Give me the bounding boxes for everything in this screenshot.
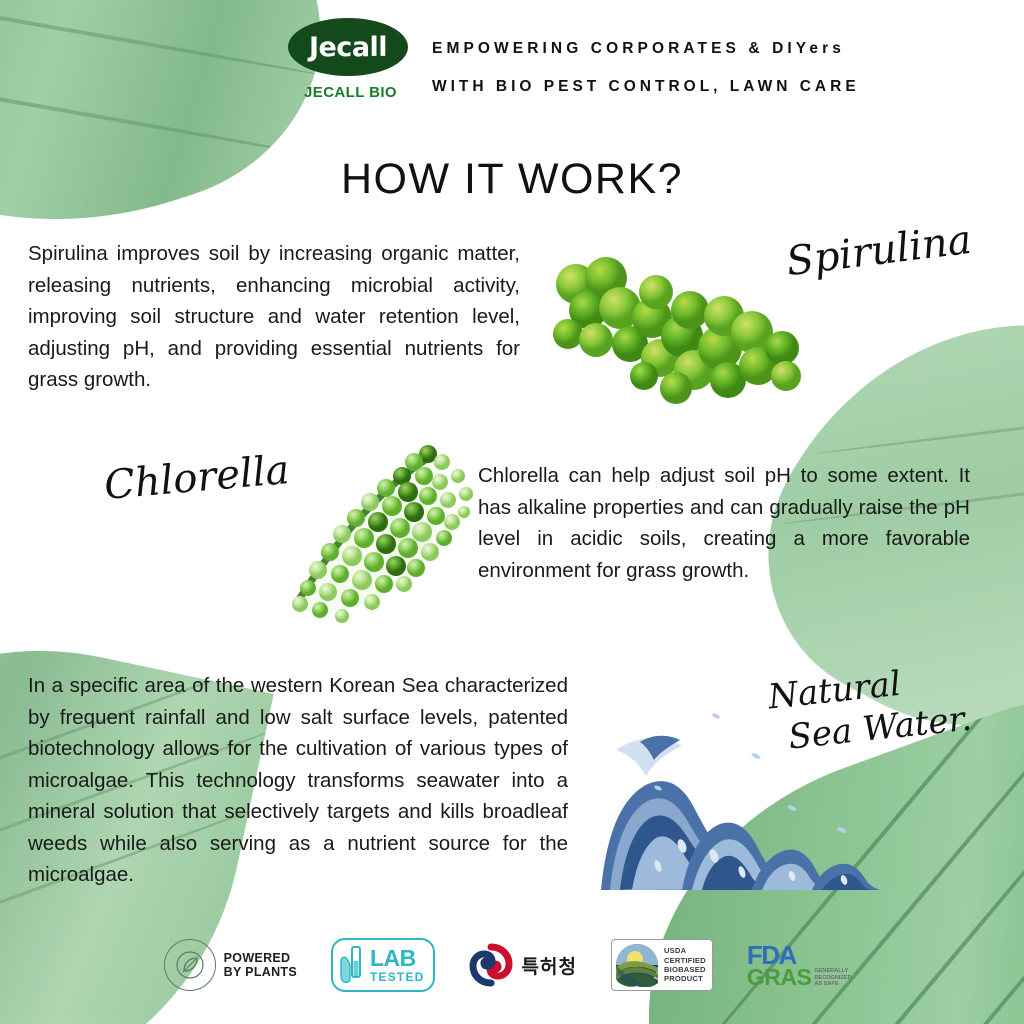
leaf-icon xyxy=(164,939,216,991)
page-title: HOW IT WORK? xyxy=(0,155,1024,204)
gras-label: GRAS xyxy=(747,967,811,988)
usda-landscape-icon xyxy=(615,943,659,987)
sea-water-paragraph: In a specific area of the western Korean… xyxy=(28,670,568,891)
usda-line-2: CERTIFIED xyxy=(664,956,706,965)
powered-by-plants-text: POWERED BY PLANTS xyxy=(224,951,297,979)
lab-tested-line-2: TESTED xyxy=(370,971,425,983)
tagline-line-2: WITH BIO PEST CONTROL, LAWN CARE xyxy=(432,68,962,106)
lab-tested-line-1: LAB xyxy=(370,947,425,970)
powered-by-plants-line-2: BY PLANTS xyxy=(224,965,297,979)
badge-kipo: 특허청 xyxy=(469,943,577,987)
logo-ellipse: Jecall xyxy=(288,18,408,76)
gras-row: GRAS GENERALLY RECOGNIZED AS SAFE xyxy=(747,967,860,988)
usda-box: USDA CERTIFIED BIOBASED PRODUCT xyxy=(611,939,713,991)
spirulina-script-label: Spirulina xyxy=(784,217,974,285)
logo-subtitle: JECALL BIO xyxy=(288,84,413,101)
chlorella-leaf-illustration xyxy=(252,432,492,627)
chlorella-paragraph: Chlorella can help adjust soil pH to som… xyxy=(478,460,970,586)
poster-canvas: Jecall JECALL BIO EMPOWERING CORPORATES … xyxy=(0,0,1024,1024)
usda-line-4: PRODUCT xyxy=(664,974,706,983)
hand-test-tube-icon xyxy=(339,945,365,985)
gras-note: GENERALLY RECOGNIZED AS SAFE xyxy=(814,968,860,987)
usda-line-3: BIOBASED xyxy=(664,965,706,974)
fda-gras-box: FDA GRAS GENERALLY RECOGNIZED AS SAFE xyxy=(747,943,860,988)
tagline-line-1: EMPOWERING CORPORATES & DIYers xyxy=(432,30,962,68)
usda-line-1: USDA xyxy=(664,946,706,955)
spirulina-paragraph: Spirulina improves soil by increasing or… xyxy=(28,238,520,396)
taegeuk-icon xyxy=(469,943,513,987)
badge-lab-tested: LAB TESTED xyxy=(331,938,435,992)
fda-label: FDA xyxy=(747,943,860,967)
badge-usda-biobased: USDA CERTIFIED BIOBASED PRODUCT xyxy=(611,939,713,991)
powered-by-plants-line-1: POWERED xyxy=(224,951,297,965)
kipo-label: 특허청 xyxy=(522,952,577,979)
lab-tested-pill: LAB TESTED xyxy=(331,938,435,992)
usda-text: USDA CERTIFIED BIOBASED PRODUCT xyxy=(664,946,706,984)
header-tagline: EMPOWERING CORPORATES & DIYers WITH BIO … xyxy=(432,30,962,106)
badge-fda-gras: FDA GRAS GENERALLY RECOGNIZED AS SAFE xyxy=(747,943,860,988)
logo-wordmark: Jecall xyxy=(309,34,387,61)
badge-powered-by-plants: POWERED BY PLANTS xyxy=(164,939,297,991)
certification-badges-row: POWERED BY PLANTS LAB TESTED xyxy=(0,938,1024,992)
lab-tested-text: LAB TESTED xyxy=(370,947,425,983)
brand-logo: Jecall JECALL BIO xyxy=(288,18,413,101)
